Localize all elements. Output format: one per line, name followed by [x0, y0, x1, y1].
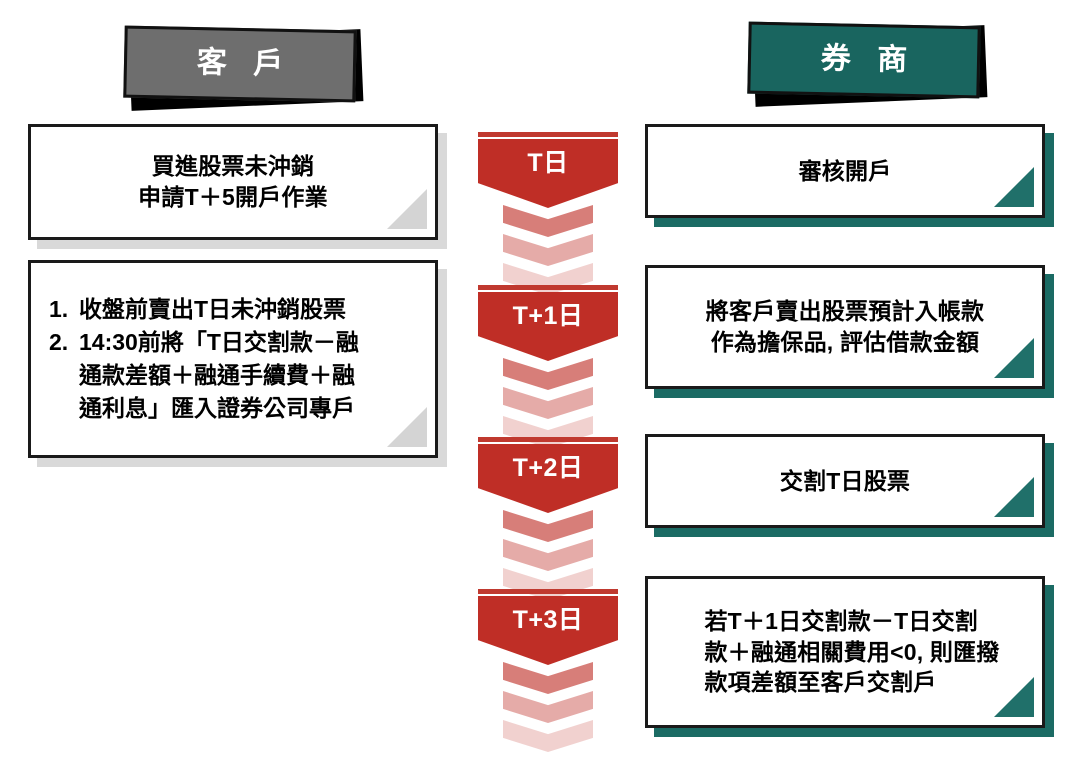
box-body: 若T＋1日交割款－T日交割 款＋融通相關費用<0, 則匯撥 款項差額至客戶交割戶: [645, 576, 1045, 728]
chevron-down-icon: [503, 358, 593, 390]
stage-pentagon: T+2日: [478, 444, 618, 513]
diagram-canvas: 客 戶 券 商 買進股票未沖銷 申請T＋5開戶作業 1. 收盤前賣出T日未沖銷股…: [0, 0, 1083, 760]
timeline-stage-t3: T+3日: [478, 589, 618, 665]
broker-header-label: 券 商: [812, 44, 917, 76]
text-line: 買進股票未沖銷: [138, 151, 328, 182]
box-body: 交割T日股票: [645, 434, 1045, 528]
customer-box-2: 1. 收盤前賣出T日未沖銷股票 2. 14:30前將「T日交割款－融 通款差額＋…: [28, 260, 438, 458]
timeline-stage-t1: T+1日: [478, 285, 618, 361]
text-line: 交割T日股票: [780, 466, 910, 497]
stage-pentagon: T+1日: [478, 292, 618, 361]
stage-cap: [478, 285, 618, 290]
broker-box-3: 交割T日股票: [645, 434, 1045, 528]
box-text: 買進股票未沖銷 申請T＋5開戶作業: [124, 151, 342, 213]
corner-triangle-icon: [994, 477, 1034, 517]
box-body: 將客戶賣出股票預計入帳款 作為擔保品, 評估借款金額: [645, 265, 1045, 389]
stage-cap: [478, 132, 618, 137]
stage-pentagon: T日: [478, 139, 618, 208]
chevron-down-icon: [503, 510, 593, 542]
text-line: 通利息」匯入證券公司專戶: [79, 395, 355, 421]
list-item-number: 1.: [49, 293, 79, 326]
stage-label: T+3日: [513, 596, 584, 633]
broker-box-2: 將客戶賣出股票預計入帳款 作為擔保品, 評估借款金額: [645, 265, 1045, 389]
settlement-timeline: T日 T+1日 T+2日: [478, 0, 618, 760]
text-line: 作為擔保品, 評估借款金額: [706, 327, 984, 358]
broker-box-4: 若T＋1日交割款－T日交割 款＋融通相關費用<0, 則匯撥 款項差額至客戶交割戶: [645, 576, 1045, 728]
banner-plate: 券 商: [747, 22, 980, 99]
stage-label: T+2日: [513, 444, 584, 481]
list-item-text: 收盤前賣出T日未沖銷股票: [79, 293, 419, 326]
chevron-down-icon: [503, 662, 593, 694]
timeline-stage-t: T日: [478, 132, 618, 208]
box-text: 交割T日股票: [766, 466, 924, 497]
list-item: 2. 14:30前將「T日交割款－融 通款差額＋融通手續費＋融 通利息」匯入證券…: [49, 326, 419, 425]
chevron-down-icon: [503, 691, 593, 723]
text-line: 款項差額至客戶交割戶: [704, 667, 999, 698]
stage-label: T日: [527, 139, 568, 176]
broker-header-banner: 券 商: [748, 24, 980, 96]
timeline-stage-t2: T+2日: [478, 437, 618, 513]
chevron-down-icon: [503, 205, 593, 237]
list-item-number: 2.: [49, 326, 79, 359]
box-body: 1. 收盤前賣出T日未沖銷股票 2. 14:30前將「T日交割款－融 通款差額＋…: [28, 260, 438, 458]
text-line: 若T＋1日交割款－T日交割: [704, 606, 999, 637]
box-text: 審核開戶: [785, 156, 906, 187]
customer-box-1: 買進股票未沖銷 申請T＋5開戶作業: [28, 124, 438, 240]
chevron-down-icon: [503, 720, 593, 752]
text-line: 審核開戶: [799, 156, 892, 187]
box-text: 將客戶賣出股票預計入帳款 作為擔保品, 評估借款金額: [692, 296, 998, 358]
list-item-text: 14:30前將「T日交割款－融 通款差額＋融通手續費＋融 通利息」匯入證券公司專…: [79, 326, 419, 425]
stage-cap: [478, 589, 618, 594]
customer-header-label: 客 戶: [188, 48, 293, 80]
chevron-down-icon: [503, 387, 593, 419]
banner-plate: 客 戶: [123, 26, 356, 103]
chevron-down-icon: [503, 539, 593, 571]
connector-chevrons-4: [503, 662, 593, 756]
box-body: 買進股票未沖銷 申請T＋5開戶作業: [28, 124, 438, 240]
text-line: 申請T＋5開戶作業: [138, 182, 328, 213]
text-line: 款＋融通相關費用<0, 則匯撥: [704, 637, 999, 668]
text-line: 14:30前將「T日交割款－融: [79, 329, 359, 355]
box-ordered-list: 1. 收盤前賣出T日未沖銷股票 2. 14:30前將「T日交割款－融 通款差額＋…: [31, 293, 435, 425]
list-item: 1. 收盤前賣出T日未沖銷股票: [49, 293, 419, 326]
text-line: 將客戶賣出股票預計入帳款: [706, 296, 984, 327]
box-body: 審核開戶: [645, 124, 1045, 218]
stage-cap: [478, 437, 618, 442]
chevron-down-icon: [503, 234, 593, 266]
corner-triangle-icon: [994, 167, 1034, 207]
stage-pentagon: T+3日: [478, 596, 618, 665]
broker-box-1: 審核開戶: [645, 124, 1045, 218]
box-text: 若T＋1日交割款－T日交割 款＋融通相關費用<0, 則匯撥 款項差額至客戶交割戶: [676, 606, 1013, 698]
customer-header-banner: 客 戶: [124, 28, 356, 100]
corner-triangle-icon: [387, 189, 427, 229]
corner-triangle-icon: [994, 338, 1034, 378]
stage-label: T+1日: [513, 292, 584, 329]
text-line: 通款差額＋融通手續費＋融: [79, 362, 355, 388]
